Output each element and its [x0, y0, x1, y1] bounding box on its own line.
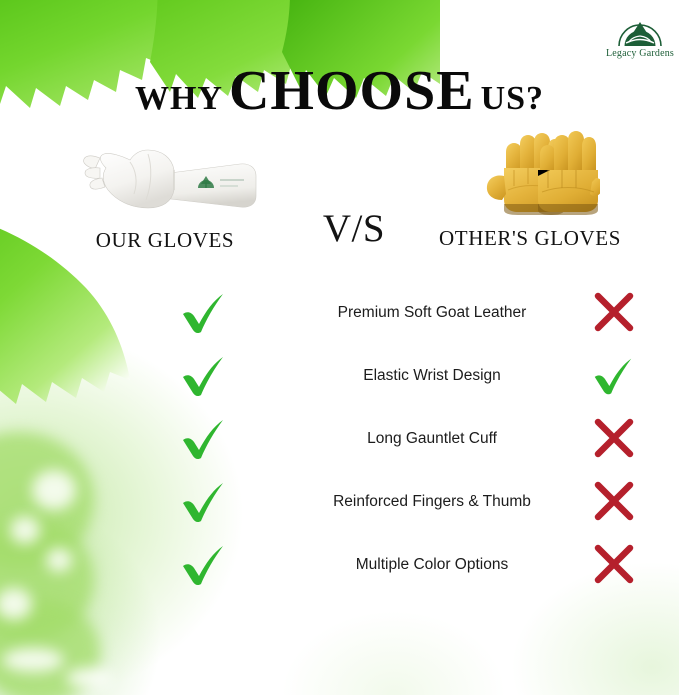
brand-logo: Legacy Gardens [602, 17, 678, 59]
white-long-gauntlet-gloves-image [70, 128, 265, 220]
feature-label: Premium Soft Goat Leather [330, 303, 534, 323]
brand-name: Legacy Gardens [602, 48, 678, 59]
column-header-other-gloves: OTHER'S GLOVES [380, 226, 679, 251]
feature-label: Long Gauntlet Cuff [330, 429, 534, 449]
cell-other-gloves [534, 544, 679, 586]
check-icon [178, 290, 228, 336]
cross-icon [592, 481, 634, 523]
title-word-why: WHY [135, 80, 223, 117]
cross-icon [592, 418, 634, 460]
table-row: Multiple Color Options [0, 533, 679, 596]
cell-our-gloves [0, 479, 330, 525]
table-row: Elastic Wrist Design [0, 344, 679, 407]
cell-feature: Premium Soft Goat Leather [330, 303, 534, 323]
cell-our-gloves [0, 416, 330, 462]
check-icon [178, 542, 228, 588]
comparison-table: Premium Soft Goat Leather Elastic Wrist … [0, 281, 679, 596]
feature-label: Multiple Color Options [330, 555, 534, 575]
cell-other-gloves [534, 418, 679, 460]
cell-feature: Elastic Wrist Design [330, 366, 534, 386]
garden-arch-tree-icon [617, 17, 663, 47]
why-choose-us-infographic: Legacy Gardens WHYCHOOSEUS? [0, 0, 679, 695]
cross-icon [592, 292, 634, 334]
table-row: Reinforced Fingers & Thumb [0, 470, 679, 533]
title-word-choose: CHOOSE [229, 60, 475, 122]
bokeh-blob [2, 648, 64, 672]
feature-label: Reinforced Fingers & Thumb [330, 492, 534, 512]
feature-label: Elastic Wrist Design [330, 366, 534, 386]
cell-other-gloves [534, 292, 679, 334]
check-icon [178, 353, 228, 399]
cross-icon [592, 544, 634, 586]
bokeh-blob [66, 668, 112, 688]
column-header-our-gloves: OUR GLOVES [0, 228, 330, 253]
table-row: Premium Soft Goat Leather [0, 281, 679, 344]
cell-our-gloves [0, 542, 330, 588]
check-icon [590, 355, 636, 397]
tan-short-leather-gloves-image [478, 124, 600, 224]
cell-feature: Multiple Color Options [330, 555, 534, 575]
cell-other-gloves [534, 355, 679, 397]
check-icon [178, 416, 228, 462]
cell-other-gloves [534, 481, 679, 523]
cell-feature: Reinforced Fingers & Thumb [330, 492, 534, 512]
page-title: WHYCHOOSEUS? [0, 59, 679, 123]
check-icon [178, 479, 228, 525]
bokeh-blob [0, 600, 100, 695]
cell-our-gloves [0, 290, 330, 336]
title-word-us: US? [481, 80, 544, 117]
table-row: Long Gauntlet Cuff [0, 407, 679, 470]
cell-feature: Long Gauntlet Cuff [330, 429, 534, 449]
cell-our-gloves [0, 353, 330, 399]
